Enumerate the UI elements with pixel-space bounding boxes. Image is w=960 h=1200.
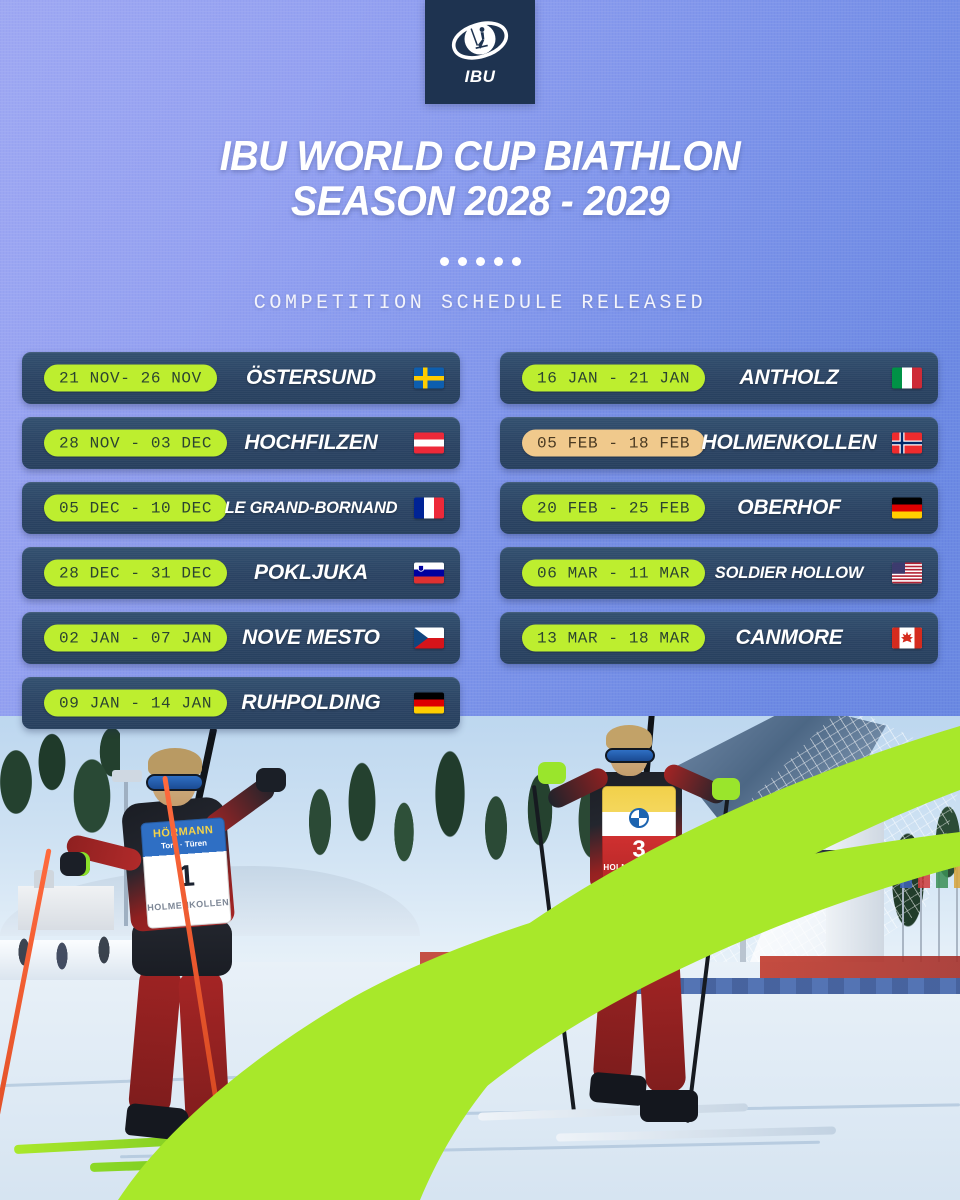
ski-boot: [640, 1090, 698, 1122]
separator-dot: [494, 257, 503, 266]
athlete-left: HÖRMANN Tore · Türen 1 HOLMENKOLLEN: [60, 734, 320, 1200]
date-range-pill: 21 NOV- 26 NOV: [44, 365, 217, 392]
separator-dot: [512, 257, 521, 266]
venue-name: CANMORE: [696, 626, 882, 650]
venue-name: NOVE MESTO: [218, 626, 404, 650]
leg: [178, 969, 230, 1129]
flag-germany-icon: [414, 693, 444, 714]
bib-number: 1: [143, 857, 229, 897]
flag-norway-icon: [892, 433, 922, 454]
date-range-pill: 28 NOV - 03 DEC: [44, 430, 227, 457]
venue-name: HOLMENKOLLEN: [696, 431, 882, 455]
schedule-row[interactable]: 06 MAR - 11 MARSOLDIER HOLLOW: [500, 547, 938, 599]
date-range-pill: 28 DEC - 31 DEC: [44, 560, 227, 587]
flag-pole-banners: [900, 866, 960, 888]
ibu-logo-text: IBU: [465, 67, 496, 87]
schedule-row[interactable]: 20 FEB - 25 FEBOBERHOF: [500, 482, 938, 534]
flag-slovenia-icon: [414, 563, 444, 584]
separator-dot: [440, 257, 449, 266]
venue-name: LE GRAND-BORNAND: [218, 499, 404, 518]
separator-dot: [476, 257, 485, 266]
venue-name: POKLJUKA: [218, 561, 404, 585]
glove: [538, 762, 566, 784]
schedule-list: 21 NOV- 26 NOVÖSTERSUND28 NOV - 03 DECHO…: [0, 352, 960, 732]
leg: [592, 923, 641, 1085]
date-range-pill: 05 FEB - 18 FEB: [522, 430, 705, 457]
schedule-row[interactable]: 16 JAN - 21 JANANTHOLZ: [500, 352, 938, 404]
date-range-pill: 09 JAN - 14 JAN: [44, 690, 227, 717]
dot-separator: [0, 257, 960, 266]
leg: [638, 925, 687, 1093]
athlete-right: 3 HOLMENKOLLEN: [536, 722, 766, 1192]
date-range-pill: 20 FEB - 25 FEB: [522, 495, 705, 522]
title-block: IBU WORLD CUP BIATHLON SEASON 2028 - 202…: [0, 134, 960, 315]
ski-pole: [532, 785, 576, 1113]
hero-photo: HÖRMANN Tore · Türen 1 HOLMENKOLLEN 3 HO…: [0, 716, 960, 1200]
ibu-biathlete-globe-icon: [449, 17, 511, 65]
schedule-row[interactable]: 13 MAR - 18 MARCANMORE: [500, 612, 938, 664]
venue-name: HOCHFILZEN: [218, 431, 404, 455]
separator-dot: [458, 257, 467, 266]
date-range-pill: 02 JAN - 07 JAN: [44, 625, 227, 652]
venue-name: OBERHOF: [696, 496, 882, 520]
venue-name: SOLDIER HOLLOW: [696, 564, 882, 583]
sunglasses: [146, 774, 204, 791]
schedule-row[interactable]: 09 JAN - 14 JANRUHPOLDING: [22, 677, 460, 729]
flag-italy-icon: [892, 368, 922, 389]
glove: [712, 778, 740, 800]
venue-name: ÖSTERSUND: [218, 366, 404, 390]
flag-sweden-icon: [414, 368, 444, 389]
ibu-logo-badge: IBU: [425, 0, 535, 104]
flag-czechia-icon: [414, 628, 444, 649]
flag-canada-icon: [892, 628, 922, 649]
schedule-row[interactable]: 28 NOV - 03 DECHOCHFILZEN: [22, 417, 460, 469]
venue-name: ANTHOLZ: [696, 366, 882, 390]
date-range-pill: 05 DEC - 10 DEC: [44, 495, 227, 522]
page-title-line-1: IBU WORLD CUP BIATHLON: [29, 134, 931, 179]
sponsor-banner-right: [760, 956, 960, 978]
date-range-pill: 13 MAR - 18 MAR: [522, 625, 705, 652]
flag-usa-icon: [892, 563, 922, 584]
schedule-row[interactable]: 05 FEB - 18 FEBHOLMENKOLLEN: [500, 417, 938, 469]
subtitle: COMPETITION SCHEDULE RELEASED: [0, 292, 960, 315]
schedule-row[interactable]: 21 NOV- 26 NOVÖSTERSUND: [22, 352, 460, 404]
glove: [256, 768, 286, 792]
venue-name: RUHPOLDING: [218, 691, 404, 715]
schedule-column-right: 16 JAN - 21 JANANTHOLZ05 FEB - 18 FEBHOL…: [500, 352, 938, 677]
date-range-pill: 06 MAR - 11 MAR: [522, 560, 705, 587]
ski-boot: [180, 1122, 244, 1156]
schedule-column-left: 21 NOV- 26 NOVÖSTERSUND28 NOV - 03 DECHO…: [22, 352, 460, 742]
race-bib: 3 HOLMENKOLLEN: [602, 786, 676, 886]
schedule-row[interactable]: 28 DEC - 31 DECPOKLJUKA: [22, 547, 460, 599]
ski-pole: [686, 789, 731, 1123]
schedule-row[interactable]: 05 DEC - 10 DECLE GRAND-BORNAND: [22, 482, 460, 534]
ski-jump-deck: [794, 850, 902, 874]
ski-boot: [589, 1072, 647, 1107]
date-range-pill: 16 JAN - 21 JAN: [522, 365, 705, 392]
sunglasses: [605, 748, 655, 763]
bmw-logo-icon: [629, 808, 649, 828]
schedule-row[interactable]: 02 JAN - 07 JANNOVE MESTO: [22, 612, 460, 664]
flag-austria-icon: [414, 433, 444, 454]
leg: [128, 964, 183, 1117]
bib-venue: HOLMENKOLLEN: [602, 863, 676, 872]
glove: [60, 852, 90, 876]
flag-france-icon: [414, 498, 444, 519]
page-title-line-2: SEASON 2028 - 2029: [29, 179, 931, 224]
flag-germany-icon: [892, 498, 922, 519]
bib-number: 3: [602, 836, 676, 864]
